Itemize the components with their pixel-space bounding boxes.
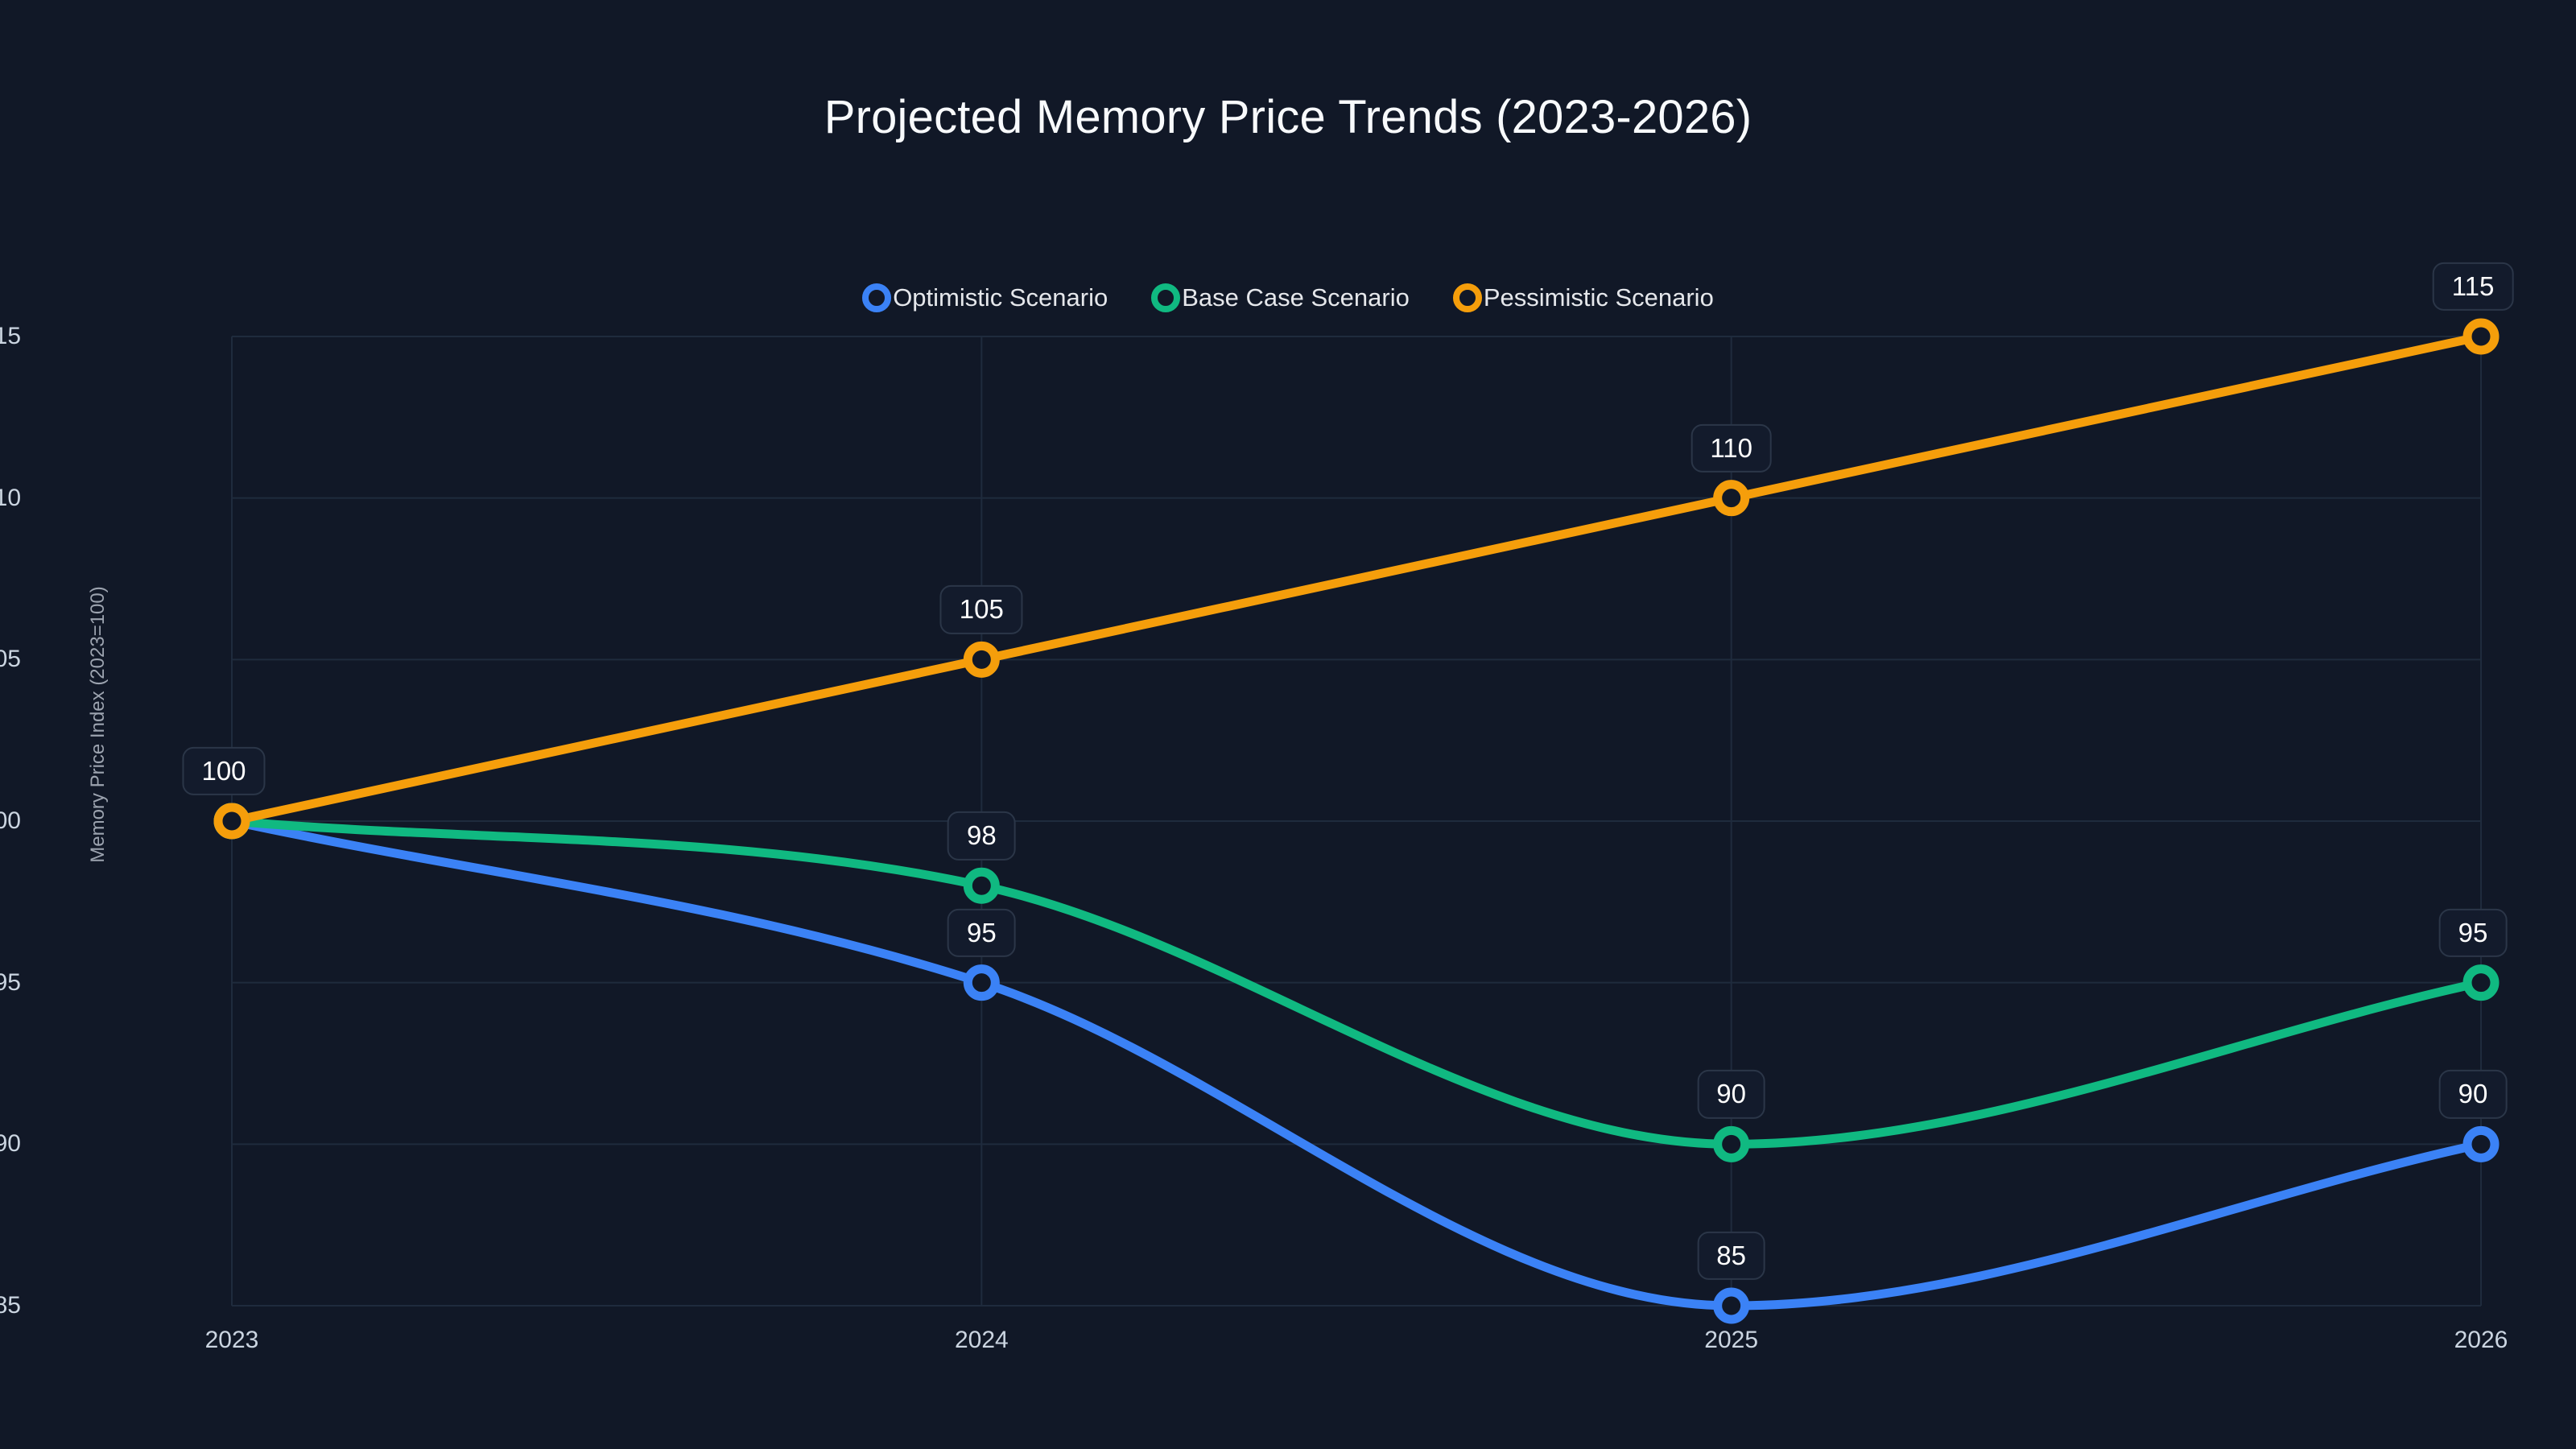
data-point-label: 95 (2439, 909, 2508, 957)
legend-label-base-case: Base Case Scenario (1182, 283, 1410, 312)
legend-marker-optimistic-icon (862, 283, 891, 312)
data-point-label: 100 (182, 747, 265, 795)
data-point-label: 98 (947, 811, 1016, 860)
data-point-marker[interactable] (2467, 969, 2495, 997)
data-point-label: 105 (940, 585, 1023, 634)
data-point-marker[interactable] (2467, 323, 2495, 350)
data-point-label: 90 (1697, 1070, 1765, 1118)
data-point-marker[interactable] (218, 807, 246, 835)
data-point-marker[interactable] (968, 646, 995, 673)
data-point-marker[interactable] (968, 872, 995, 899)
legend-marker-pessimistic-icon (1453, 283, 1482, 312)
legend-item-pessimistic[interactable]: Pessimistic Scenario (1453, 283, 1714, 312)
data-point-marker[interactable] (1718, 1292, 1745, 1319)
data-point-label: 95 (947, 909, 1016, 957)
data-point-label: 110 (1690, 424, 1772, 473)
data-point-marker[interactable] (2467, 1130, 2495, 1158)
series-line (232, 821, 2481, 1306)
series-line (232, 336, 2481, 821)
data-point-label: 85 (1697, 1232, 1765, 1280)
legend-marker-base-case-icon (1151, 283, 1180, 312)
grid-lines (232, 336, 2481, 1306)
legend-item-optimistic[interactable]: Optimistic Scenario (862, 283, 1108, 312)
legend-item-base-case[interactable]: Base Case Scenario (1151, 283, 1410, 312)
plot-area (0, 0, 2576, 1449)
legend-label-pessimistic: Pessimistic Scenario (1484, 283, 1714, 312)
legend-label-optimistic: Optimistic Scenario (893, 283, 1108, 312)
data-point-label: 90 (2439, 1070, 2508, 1118)
data-point-marker[interactable] (1718, 1130, 1745, 1158)
chart-container: Projected Memory Price Trends (2023-2026… (0, 0, 2576, 1449)
chart-legend: Optimistic Scenario Base Case Scenario P… (0, 283, 2576, 312)
data-point-marker[interactable] (968, 969, 995, 997)
data-point-marker[interactable] (1718, 485, 1745, 512)
